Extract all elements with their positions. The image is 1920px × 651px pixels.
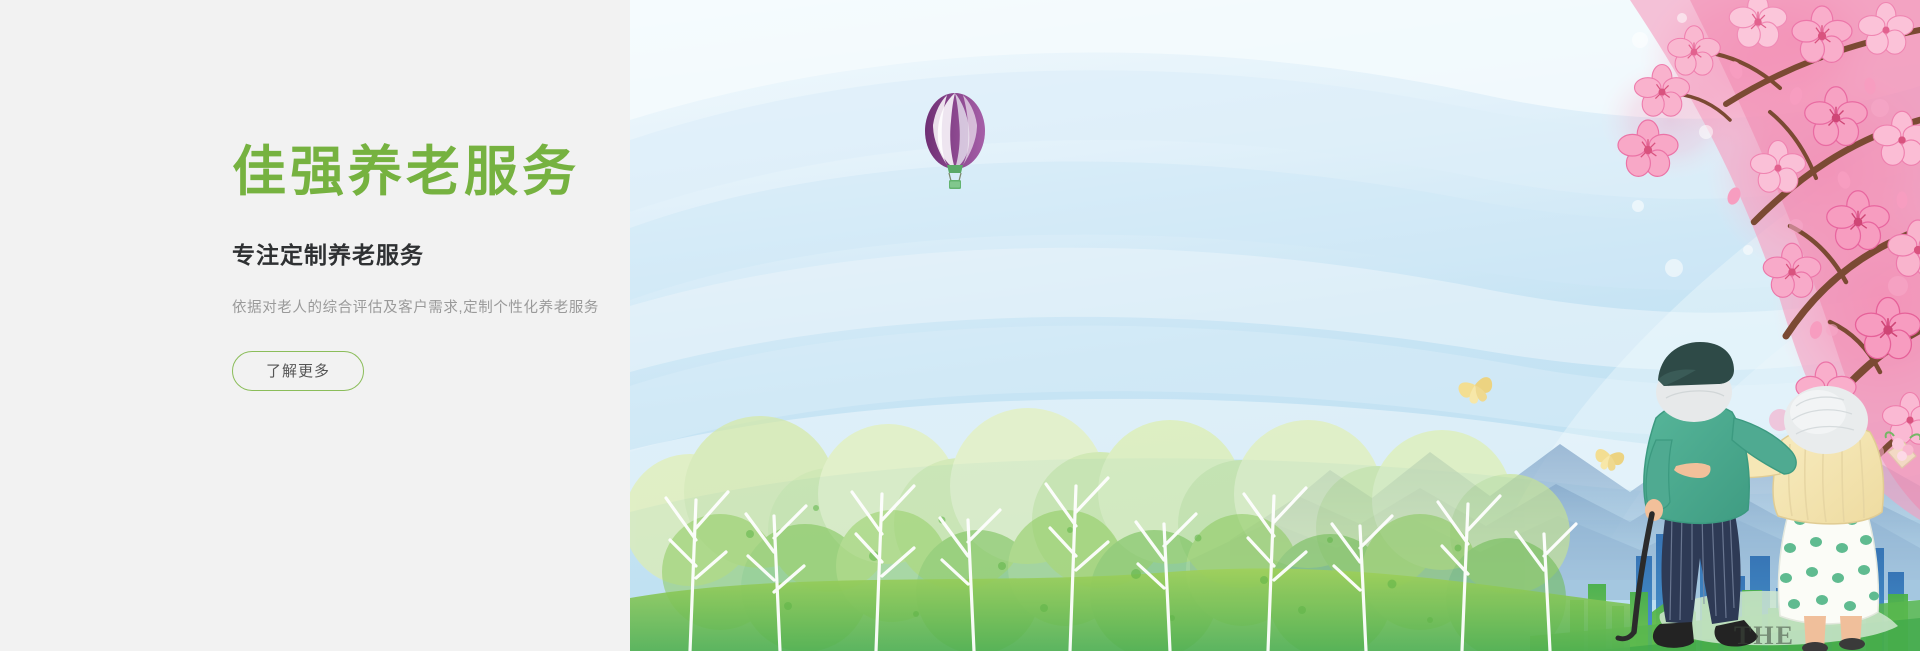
hero-description: 依据对老人的综合评估及客户需求,定制个性化养老服务 (232, 296, 852, 317)
hero-subtitle: 专注定制养老服务 (232, 236, 852, 270)
learn-more-button[interactable]: 了解更多 (232, 351, 364, 391)
page-title: 佳强养老服务 (232, 140, 852, 206)
woman-shoe-right (1839, 638, 1865, 650)
man-shoe-left (1653, 622, 1694, 648)
skyline-watermark: THE (1734, 621, 1795, 650)
hero-banner: THE 佳强养老服务 专注定制养老服务 依据对老人的综合评估及客户需求,定制个性… (0, 0, 1920, 651)
hero-copy-block: 佳强养老服务 专注定制养老服务 依据对老人的综合评估及客户需求,定制个性化养老服… (232, 140, 852, 391)
